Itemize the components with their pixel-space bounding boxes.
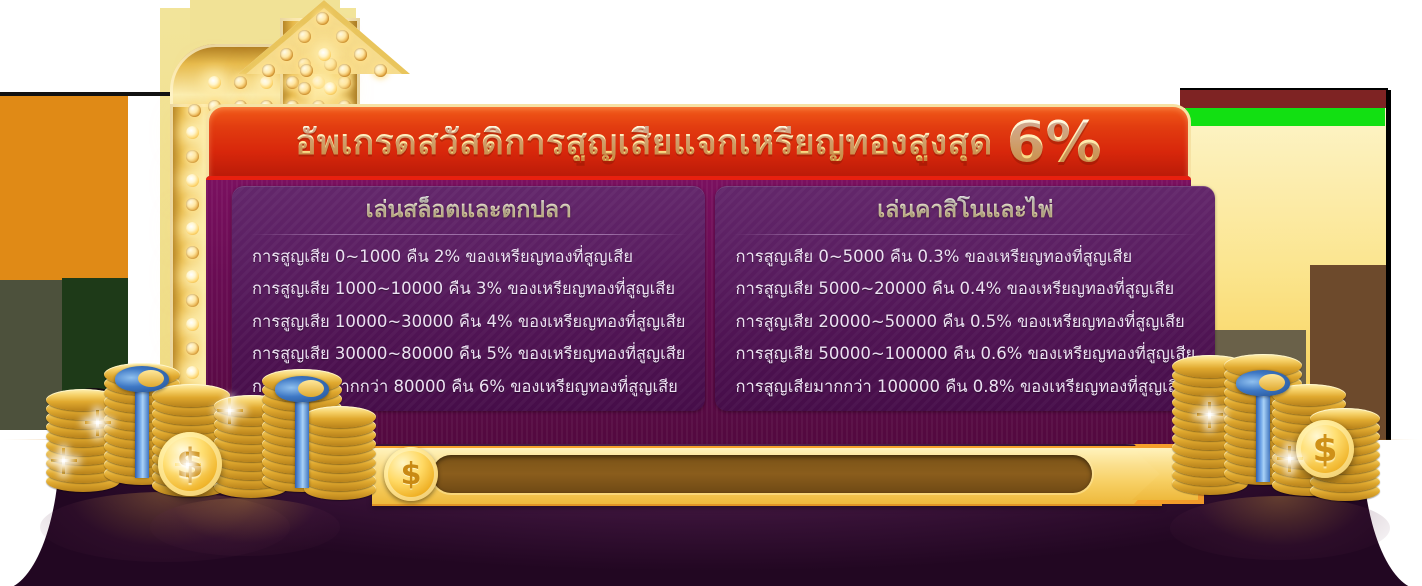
panel-divider [733,234,1197,235]
title-percent-badge: 6% [1007,115,1102,171]
dollar-coin-icon: $ [1296,420,1354,478]
panel-rows-casino-cards: การสูญเสีย 0~5000 คืน 0.3% ของเหรียญทองท… [715,241,1215,404]
sparkle-icon [1288,446,1291,472]
rebate-row: การสูญเสีย 0~5000 คืน 0.3% ของเหรียญทองท… [735,241,1195,274]
rebate-row: การสูญเสีย 50000~100000 คืน 0.6% ของเหรี… [735,338,1195,371]
coin-pile-right: $ [1160,0,1422,586]
rebate-row: การสูญเสีย 5000~20000 คืน 0.4% ของเหรียญ… [735,273,1195,306]
sparkle-icon [96,410,99,436]
panel-title-casino-cards: เล่นคาสิโนและไพ่ [715,196,1215,234]
sparkle-icon [186,452,189,478]
coin-reflection [1170,496,1390,560]
rebate-row: การสูญเสีย 20000~50000 คืน 0.5% ของเหรีย… [735,306,1195,339]
coin-pile-left: $ [0,0,380,586]
bottom-gold-ribbon: $ [372,446,1204,502]
page-title: อัพเกรดสวัสดิการสูญเสียแจกเหรียญทองสูงสุ… [295,126,992,161]
panel-casino-cards: เล่นคาสิโนและไพ่ การสูญเสีย 0~5000 คืน 0… [715,186,1215,411]
coin-reflection [150,498,340,556]
gift-bow-gold-accent [298,380,324,397]
gift-bow-gold-accent [1259,374,1285,391]
gift-bow-gold-accent [138,370,164,387]
sparkle-icon [1208,402,1211,428]
promo-banner-stage: อัพเกรดสวัสดิการสูญเสียแจกเหรียญทองสูงสุ… [0,0,1422,586]
dollar-coin-icon: $ [384,447,438,501]
gift-ribbon-vertical [135,382,149,478]
sparkle-icon [228,398,231,424]
sparkle-icon [62,448,65,474]
gift-ribbon-vertical [295,392,309,488]
coin-disc [304,406,376,428]
rebate-row: การสูญเสียมากกว่า 100000 คืน 0.8% ของเหร… [735,371,1195,404]
gift-ribbon-vertical [1256,386,1270,482]
ribbon-text-slot [432,455,1092,493]
